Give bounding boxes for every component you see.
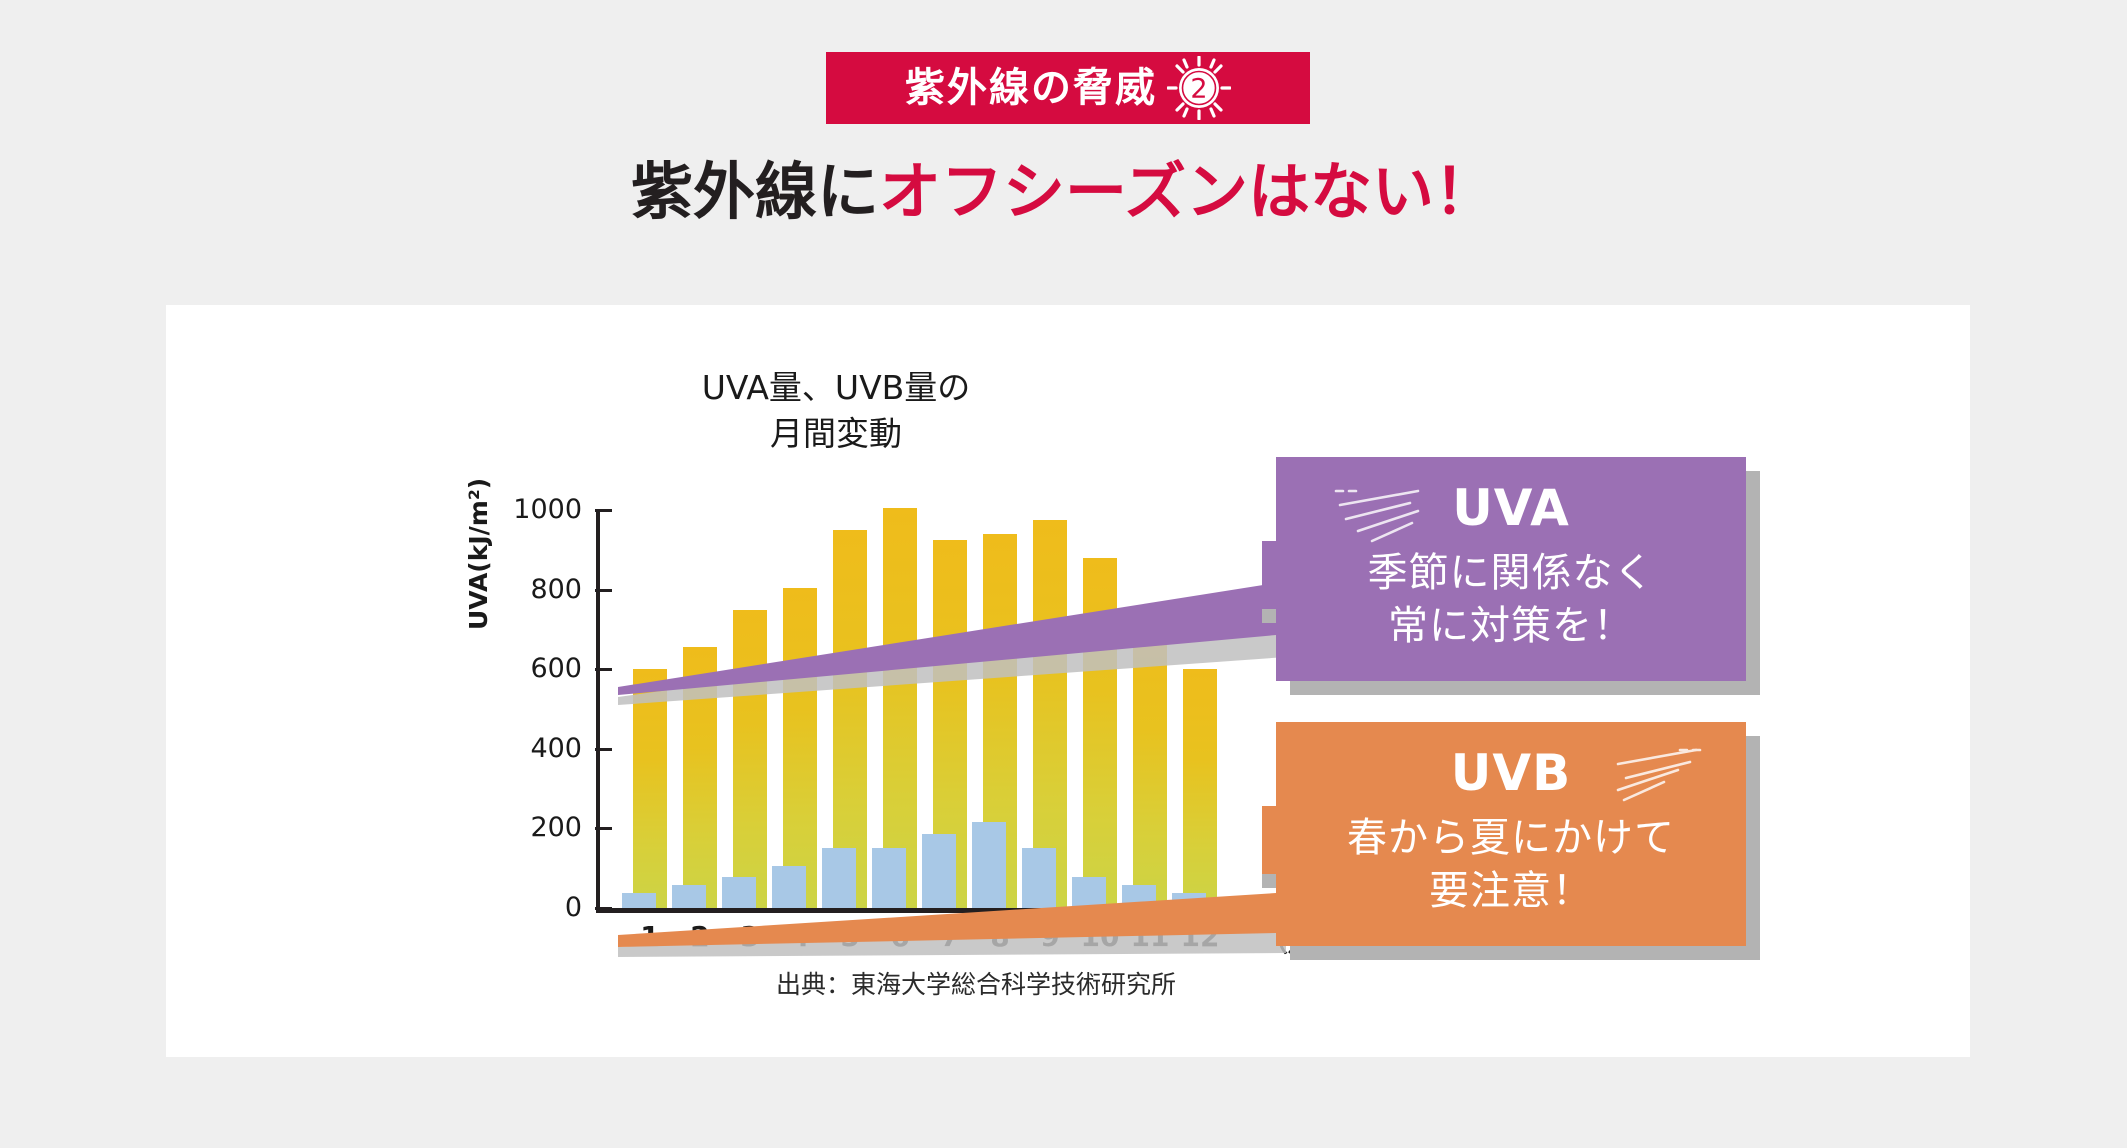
bar-uvb xyxy=(1172,893,1206,908)
y-tick xyxy=(595,827,612,830)
bar-uvb xyxy=(922,834,956,908)
chart-title-line1: UVA量、UVB量の xyxy=(596,365,1076,411)
chart-title: UVA量、UVB量の 月間変動 xyxy=(596,365,1076,456)
y-tick-label: 400 xyxy=(492,735,582,762)
y-tick-label: 600 xyxy=(492,655,582,682)
chart-source: 出典：東海大学総合科学技術研究所 xyxy=(776,965,1176,1001)
threat-badge-label: 紫外線の脅威 xyxy=(905,68,1157,108)
bar-uvb xyxy=(722,877,756,908)
bar-uvb xyxy=(1072,877,1106,908)
y-tick-label: 800 xyxy=(492,576,582,603)
content-card: UVA量、UVB量の 月間変動 UVA(kJ/m²) 0200400600800… xyxy=(166,305,1970,1057)
bar-uva xyxy=(1133,621,1167,908)
sun-rays-icon xyxy=(1594,744,1704,824)
y-tick xyxy=(595,907,612,910)
callout-uvb-body-line2: 要注意！ xyxy=(1276,865,1746,918)
bar-uvb xyxy=(822,848,856,908)
bar-uvb xyxy=(872,848,906,908)
bar-uvb xyxy=(772,866,806,908)
threat-badge: 紫外線の脅威 2 xyxy=(826,52,1310,124)
y-tick xyxy=(595,589,612,592)
page-title-lead: 紫外線に xyxy=(631,155,879,228)
sun-rays-icon xyxy=(1332,485,1442,565)
page-title-emphasis: オフシーズンはない！ xyxy=(879,155,1496,228)
y-tick xyxy=(595,748,612,751)
callout-uvb: UVB 春から夏にかけて 要注意！ xyxy=(1276,722,1746,946)
bar-uvb xyxy=(1122,885,1156,908)
bar-uvb xyxy=(672,885,706,908)
bar-uvb xyxy=(622,893,656,908)
bar-uva xyxy=(633,669,667,908)
sun-rays-icon: 2 xyxy=(1167,56,1231,120)
y-axis-title: UVA(kJ/m²) xyxy=(464,478,493,630)
y-axis-line xyxy=(596,510,600,910)
chart-title-line2: 月間変動 xyxy=(596,411,1076,457)
page-title: 紫外線にオフシーズンはない！ xyxy=(0,158,2127,226)
bar-uva xyxy=(683,647,717,908)
bar-uvb xyxy=(972,822,1006,908)
uv-bar-chart: UVA(kJ/m²) 02004006008001000 12345678910… xyxy=(596,510,1296,910)
y-tick-label: 0 xyxy=(492,894,582,921)
callout-uva: UVA 季節に関係なく 常に対策を！ xyxy=(1276,457,1746,681)
bar-uvb xyxy=(1022,848,1056,908)
callout-uva-body-line2: 常に対策を！ xyxy=(1276,600,1746,653)
y-tick xyxy=(595,668,612,671)
bar-uva xyxy=(1083,558,1117,908)
x-tick-label: 12 xyxy=(1170,920,1230,953)
y-tick-label: 200 xyxy=(492,814,582,841)
x-axis-line xyxy=(596,908,1296,913)
bar-uva xyxy=(1183,669,1217,908)
y-tick xyxy=(595,509,612,512)
y-tick-label: 1000 xyxy=(492,496,582,523)
threat-badge-number: 2 xyxy=(1190,74,1207,105)
bar-uva xyxy=(733,610,767,909)
bar-uva xyxy=(783,588,817,908)
